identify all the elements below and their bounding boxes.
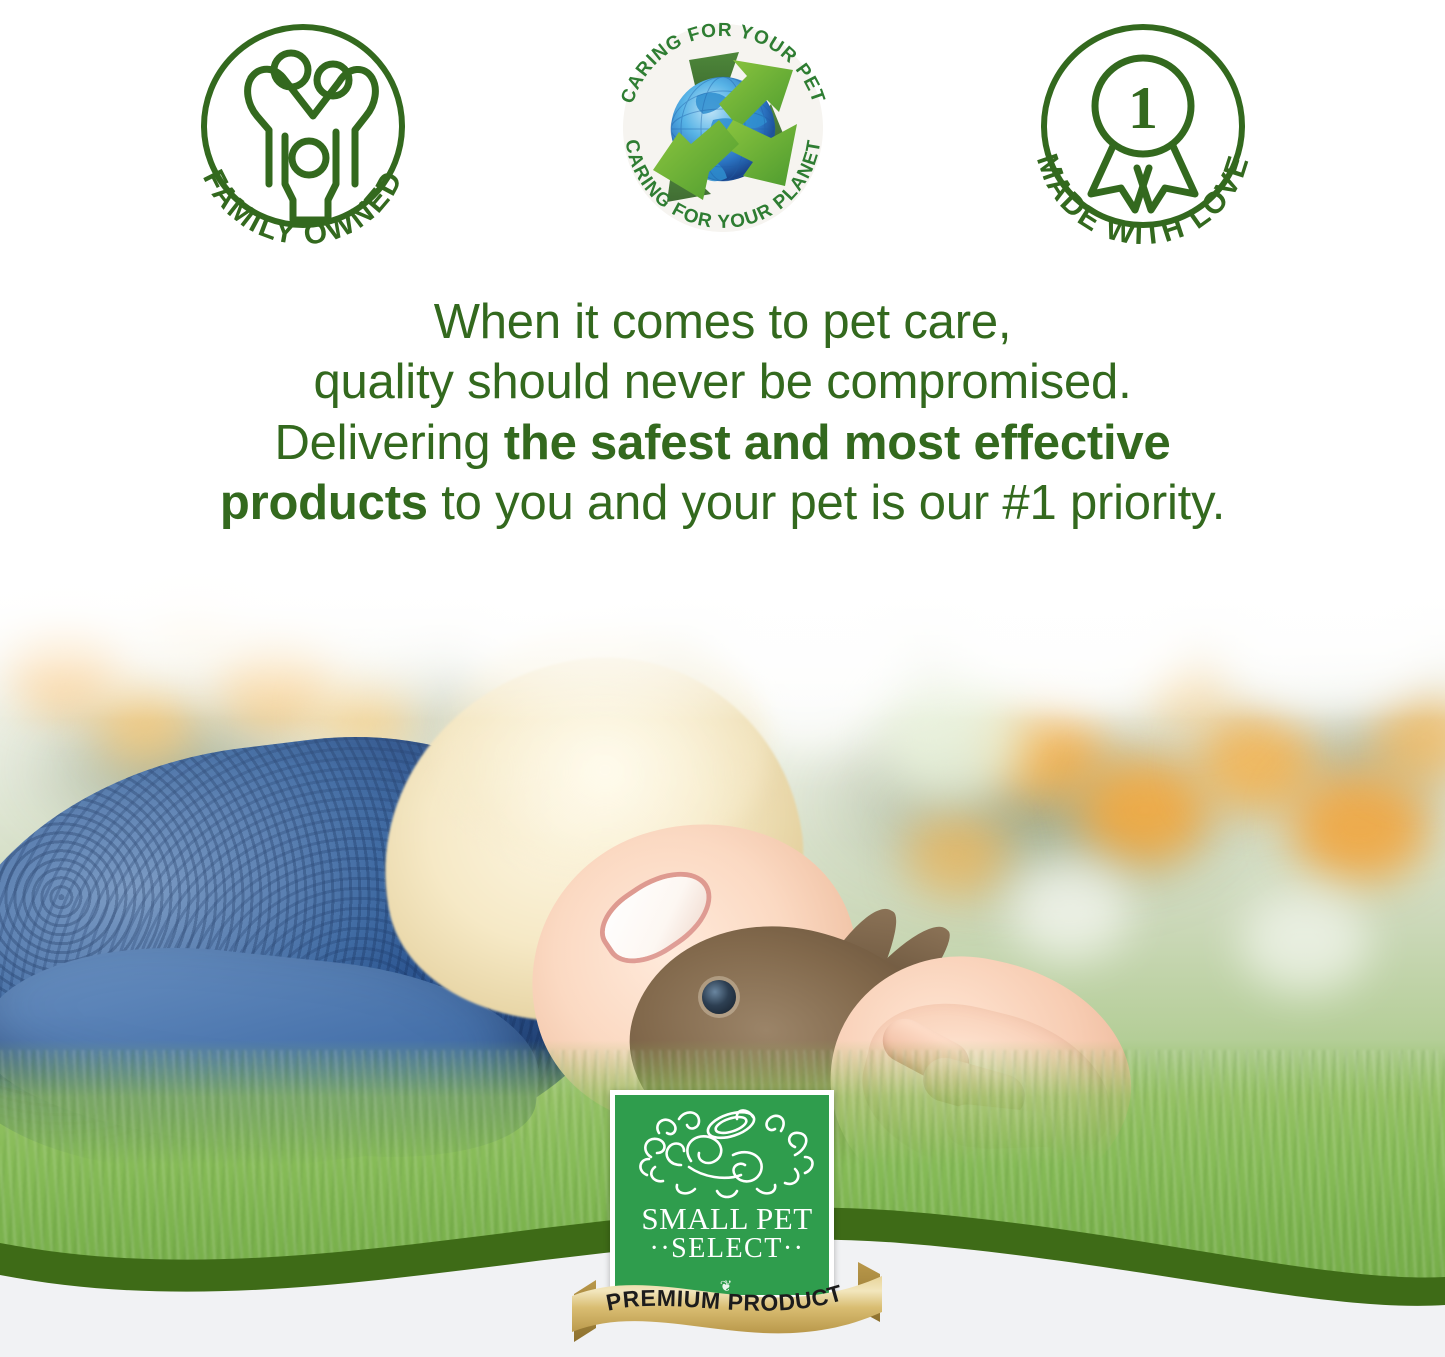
badge-family-owned: FAMILY OWNED [173, 8, 433, 260]
small-pet-select-logo: SMALL PET ··SELECT·· ❦ [610, 1090, 842, 1350]
trust-badge-row: FAMILY OWNED [0, 0, 1445, 268]
swirl-rabbit-illustration [629, 1103, 825, 1203]
headline-block: When it comes to pet care, quality shoul… [0, 292, 1445, 533]
marketing-banner: FAMILY OWNED [0, 0, 1445, 1357]
headline-line-2: quality should never be compromised. [60, 352, 1385, 412]
headline-line-3: Delivering the safest and most effective [60, 413, 1385, 473]
premium-product-ribbon: PREMIUM PRODUCT [562, 1268, 892, 1350]
badge-caring-pet-planet: CARING FOR YOUR PET CARING FOR YOUR PLAN… [593, 8, 853, 260]
badge-made-with-love-label: MADE WITH LOVE [1029, 150, 1255, 252]
logo-line-1: SMALL PET [615, 1203, 839, 1235]
headline-line-3-bold: the safest and most effective [504, 416, 1171, 470]
badge-made-with-love: 1 MADE WITH LOVE [1013, 8, 1273, 260]
logo-line-2: ··SELECT·· [615, 1235, 839, 1264]
award-number: 1 [1128, 75, 1158, 141]
headline-line-4-bold: products [220, 476, 428, 530]
headline-line-4: products to you and your pet is our #1 p… [60, 473, 1385, 533]
headline-line-4-normal: to you and your pet is our #1 priority. [428, 476, 1225, 530]
photo-white-fade [0, 560, 1445, 720]
headline-line-3-normal: Delivering [274, 416, 503, 470]
headline-line-1: When it comes to pet care, [60, 292, 1385, 352]
family-figures-icon [247, 53, 375, 220]
logo-wordmark: SMALL PET ··SELECT·· [615, 1203, 839, 1263]
